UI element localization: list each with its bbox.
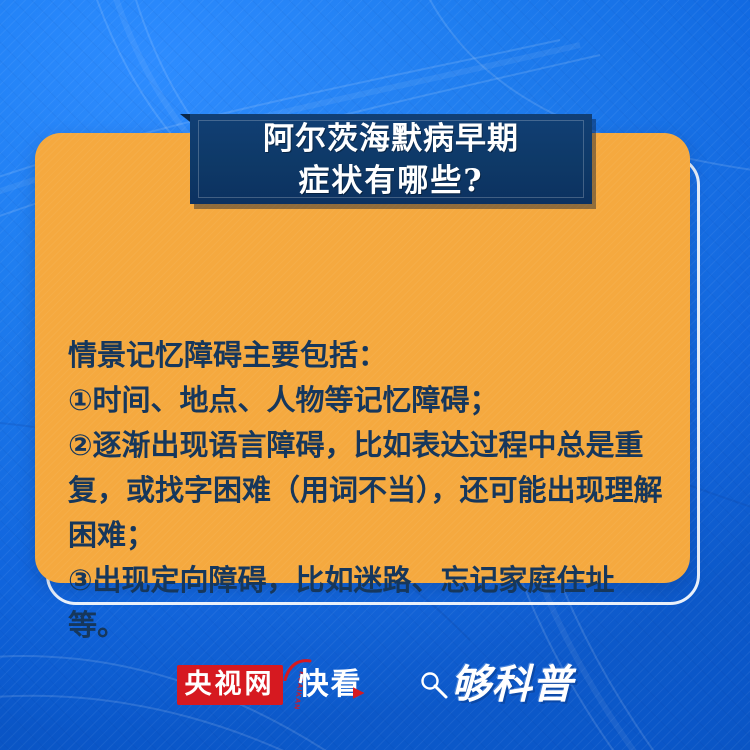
banner-plate: 阿尔茨海默病早期 症状有哪些? — [190, 114, 592, 204]
title-banner: 阿尔茨海默病早期 症状有哪些? — [190, 114, 592, 204]
cctv-wordmark-box: 央视网 — [177, 665, 283, 705]
banner-text-block: 阿尔茨海默病早期 症状有哪些? — [190, 114, 592, 202]
poster-canvas: 阿尔茨海默病早期 症状有哪些? 情景记忆障碍主要包括： ①时间、地点、人物等记忆… — [0, 0, 750, 750]
banner-title-line-1: 阿尔茨海默病早期 — [190, 118, 592, 160]
footer-logo-bar: 央视网 KUAIKAN 快看 够科普 — [0, 640, 750, 730]
kepu-logo[interactable]: 够科普 — [419, 662, 574, 708]
article-body-text: 情景记忆障碍主要包括： ①时间、地点、人物等记忆障碍； ②逐渐出现语言障碍，比如… — [68, 333, 668, 648]
magnifier-icon — [419, 670, 449, 700]
banner-title-line-2: 症状有哪些? — [190, 160, 592, 202]
cctv-logo[interactable]: 央视网 KUAIKAN 快看 — [177, 665, 363, 705]
kepu-wordmark: 够科普 — [451, 662, 574, 708]
cctv-kuaikan-label: 快看 — [299, 667, 363, 703]
